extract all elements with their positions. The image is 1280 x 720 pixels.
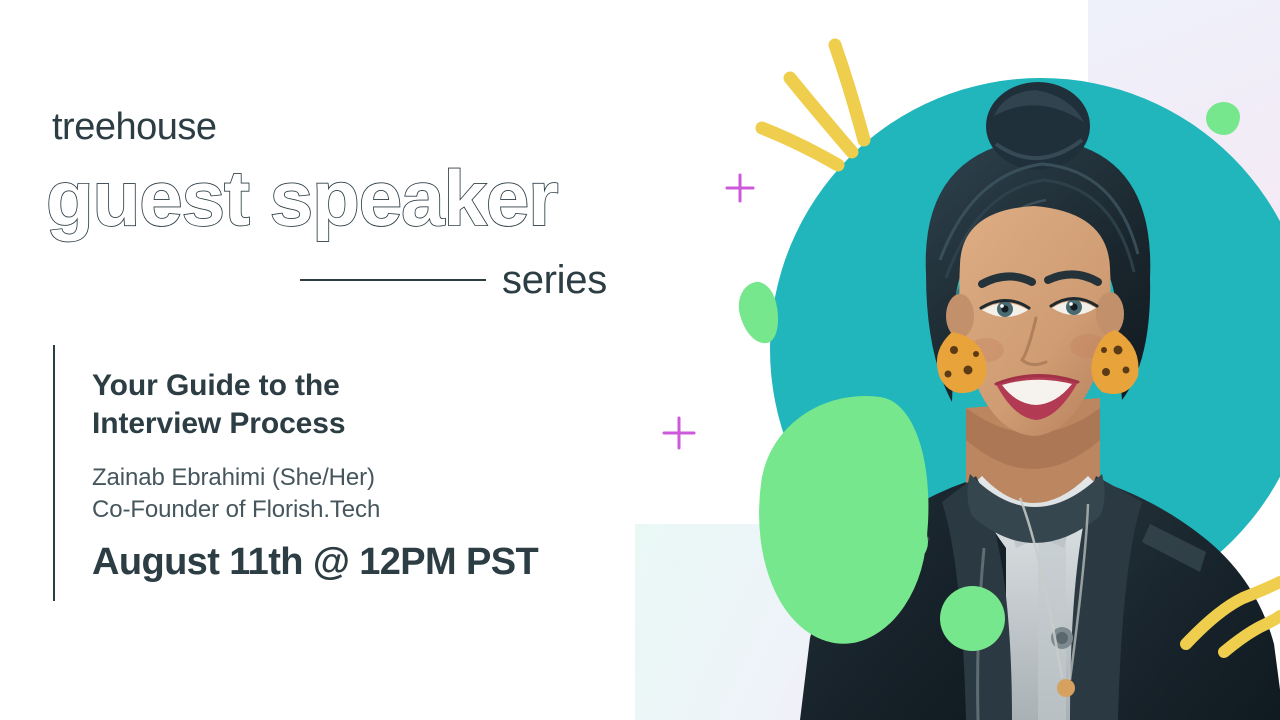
talk-title-line-2: Interview Process	[92, 407, 345, 440]
page-title: guest speaker	[46, 158, 558, 240]
detail-vertical-rule	[53, 345, 55, 601]
green-dot-circle-edge	[884, 520, 928, 564]
speaker-name: Zainab Ebrahimi (She/Her)	[92, 462, 612, 494]
series-label: series	[502, 260, 607, 300]
series-row: series	[300, 256, 630, 304]
talk-title-line-1: Your Guide to the	[92, 369, 340, 402]
event-datetime: August 11th @ 12PM PST	[92, 542, 612, 584]
speaker-role: Co-Founder of Florish.Tech	[92, 494, 612, 526]
series-divider	[300, 279, 486, 281]
brand-wordmark: treehouse	[52, 108, 217, 146]
guest-speaker-slide: treehouse guest speaker series Your Guid…	[0, 0, 1280, 720]
event-details: Your Guide to the Interview Process Zain…	[92, 367, 612, 583]
talk-title: Your Guide to the Interview Process	[92, 367, 612, 444]
green-dot-bottom-right	[940, 586, 1005, 651]
